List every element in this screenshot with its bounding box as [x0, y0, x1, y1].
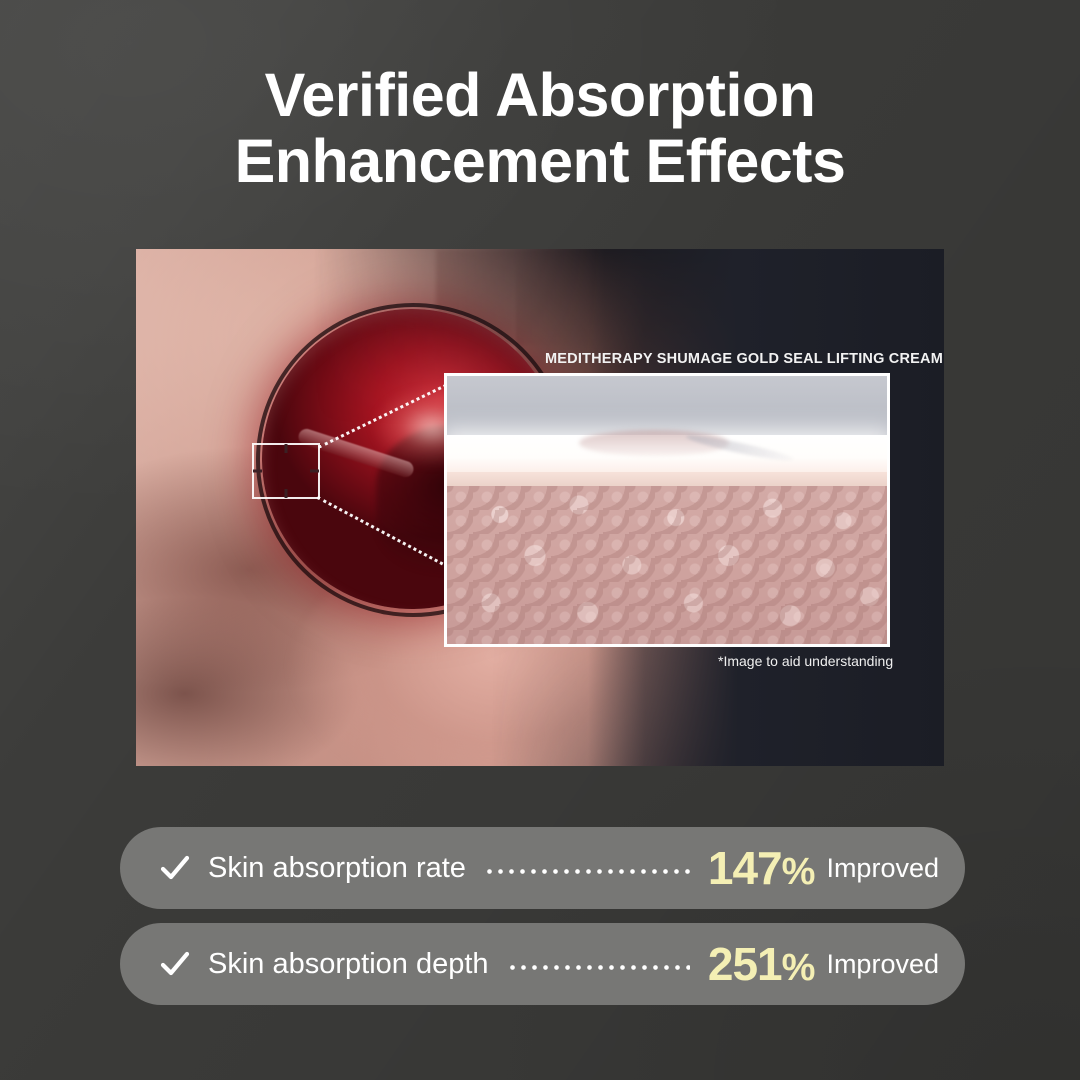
result-label: Skin absorption rate — [208, 852, 466, 885]
title-line-2: Enhancement Effects — [0, 128, 1080, 194]
result-value: 251% — [708, 937, 815, 991]
inset-cell-texture — [447, 486, 887, 644]
dotted-leader — [507, 965, 690, 970]
check-icon — [158, 851, 192, 885]
percent-sign: % — [782, 851, 815, 893]
percent-sign: % — [782, 947, 815, 989]
result-status: Improved — [826, 853, 939, 884]
page-title: Verified Absorption Enhancement Effects — [0, 62, 1080, 195]
result-row-absorption-depth: Skin absorption depth 251% Improved — [120, 923, 965, 1005]
focus-tick-left — [253, 470, 262, 473]
inset-caption: *Image to aid understanding — [718, 653, 893, 669]
result-row-absorption-rate: Skin absorption rate 147% Improved — [120, 827, 965, 909]
product-name-label: MEDITHERAPY SHUMAGE GOLD SEAL LIFTING CR… — [545, 351, 943, 367]
focus-tick-right — [310, 470, 319, 473]
result-number: 251 — [708, 938, 782, 990]
promo-page: Verified Absorption Enhancement Effects … — [0, 0, 1080, 1080]
focus-square-icon — [252, 443, 320, 499]
result-value: 147% — [708, 841, 815, 895]
check-icon — [158, 947, 192, 981]
result-label: Skin absorption depth — [208, 948, 489, 981]
inset-device-band — [447, 376, 887, 435]
focus-tick-bottom — [285, 489, 288, 498]
title-line-1: Verified Absorption — [0, 62, 1080, 128]
result-status: Improved — [826, 949, 939, 980]
focus-tick-top — [285, 444, 288, 453]
dotted-leader — [484, 869, 690, 874]
result-number: 147 — [708, 842, 782, 894]
skin-cross-section-inset — [444, 373, 890, 647]
